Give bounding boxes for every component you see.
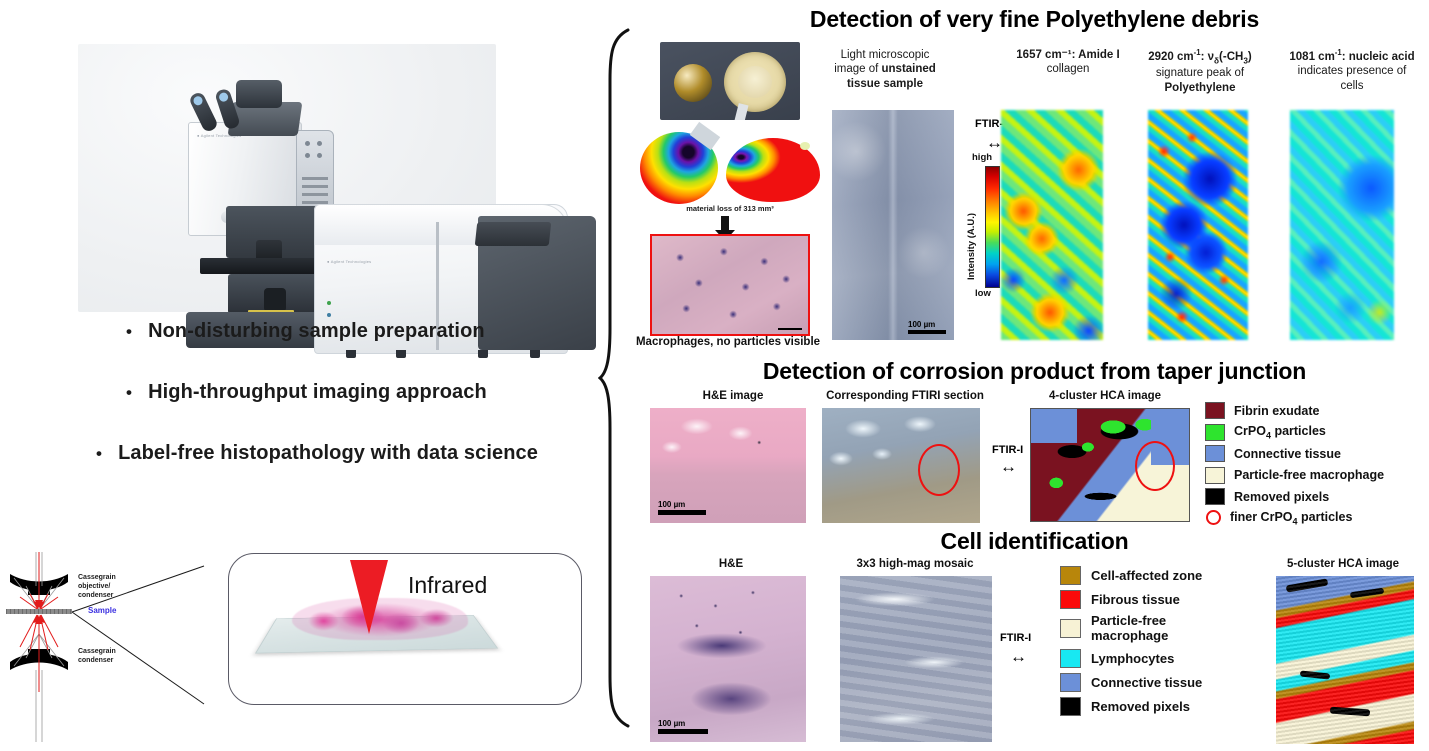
ftir-label-2: FTIR-I — [992, 444, 1023, 456]
region-of-interest-ring — [918, 444, 960, 496]
legend-row: Particle-free macrophage — [1205, 467, 1429, 484]
colorbar-axis-label: Intensity (A.U.) — [966, 176, 977, 280]
legend-swatch-cell-affected-zone — [1060, 566, 1081, 585]
material-loss-caption: material loss of 313 mm³ — [640, 204, 820, 213]
panel-caption-he-image: H&E image — [658, 390, 808, 402]
list-item: • Non-disturbing sample preparation — [126, 320, 566, 343]
legend-swatch-crpo4-particles — [1205, 424, 1225, 441]
legend-row: Lymphocytes — [1060, 649, 1275, 668]
grouping-brace — [598, 28, 632, 728]
bullet-marker: • — [96, 445, 102, 462]
legend-row: Particle-freemacrophage — [1060, 614, 1275, 644]
heatmap-2920 — [1148, 110, 1248, 340]
infrared-label: Infrared — [408, 572, 487, 599]
ftir-arrow-2: ↔ — [1000, 458, 1017, 475]
legend-label: Particle-free macrophage — [1234, 468, 1384, 482]
objective-label: Cassegrain objective/ condenser — [78, 574, 140, 600]
section-title-2: Detection of corrosion product from tape… — [640, 358, 1429, 385]
spectrometer-window — [475, 222, 552, 246]
legend-cell-identification: Cell-affected zone Fibrous tissue Partic… — [1060, 566, 1275, 721]
bullet-marker: • — [126, 384, 132, 401]
heatmap-1081 — [1290, 110, 1394, 340]
legend-ring-finer-crpo4 — [1206, 510, 1221, 525]
legend-label: Connective tissue — [1234, 447, 1341, 461]
legend-swatch-connective-tissue — [1205, 445, 1225, 462]
panel-caption-5cluster: 5-cluster HCA image — [1258, 558, 1428, 570]
condenser-label: Cassegrain condenser — [78, 648, 140, 666]
ftir-arrow-3: ↔ — [1010, 648, 1027, 665]
legend-row: Fibrin exudate — [1205, 402, 1429, 419]
list-item: • Label-free histopathology with data sc… — [96, 442, 566, 465]
legend-row: Removed pixels — [1060, 697, 1275, 716]
legend-label: Cell-affected zone — [1091, 568, 1202, 583]
legend-swatch-fibrous-tissue — [1060, 590, 1081, 609]
panel-caption-ch3: 2920 cm-1: νδ(-CH3) signature peak of Po… — [1126, 48, 1274, 95]
panel-caption-light-microscopic: Light microscopic image of image of unst… — [820, 48, 950, 91]
ftiri-section-image — [822, 408, 980, 523]
legend-label: Connective tissue — [1091, 675, 1202, 690]
light-microscopic-image: 100 µm — [832, 110, 954, 340]
condenser-unit — [264, 288, 286, 312]
inset-scalebar — [778, 327, 802, 330]
implant-photo — [660, 42, 800, 120]
panel-caption-mosaic: 3x3 high-mag mosaic — [830, 558, 1000, 570]
scalebar-he-corrosion: 100 µm — [658, 500, 706, 515]
legend-label: Particle-freemacrophage — [1091, 614, 1168, 644]
legend-row: Connective tissue — [1060, 673, 1275, 692]
legend-swatch-particle-free-macrophage — [1060, 619, 1081, 638]
legend-label: finer CrPO4 particles — [1230, 510, 1352, 527]
legend-row: Removed pixels — [1205, 488, 1429, 505]
highmag-mosaic-image — [840, 576, 992, 742]
panel-caption-amide: 1657 cm⁻¹: Amide I collagen — [998, 48, 1138, 77]
panel-caption-he: H&E — [656, 558, 806, 570]
legend-swatch-lymphocytes — [1060, 649, 1081, 668]
wear-map-diagram — [640, 128, 820, 206]
panel-caption-nucleic: 1081 cm-1: nucleic acid indicates presen… — [1278, 48, 1426, 93]
legend-label: Fibrin exudate — [1234, 404, 1319, 418]
hca-5cluster-image — [1276, 576, 1414, 744]
legend-label: Lymphocytes — [1091, 651, 1174, 666]
scalebar-light-microscopic: 100 µm — [908, 320, 946, 334]
legend-label: Removed pixels — [1234, 490, 1329, 504]
bullet-text: High-throughput imaging approach — [148, 381, 487, 404]
ftir-label-3: FTIR-I — [1000, 632, 1031, 644]
legend-row: Fibrous tissue — [1060, 590, 1275, 609]
legend-row: finer CrPO4 particles — [1205, 510, 1429, 527]
he-histology-image-corrosion: 100 µm — [650, 408, 806, 523]
colorbar-high-label: high — [972, 152, 992, 163]
bullet-marker: • — [126, 323, 132, 340]
legend-row: Connective tissue — [1205, 445, 1429, 462]
macrophage-caption: Macrophages, no particles visible — [620, 336, 836, 348]
legend-swatch-removed-pixels — [1060, 697, 1081, 716]
brace-svg — [598, 28, 632, 728]
legend-row: CrPO4 particles — [1205, 424, 1429, 441]
scalebar-he-cells: 100 µm — [658, 719, 708, 734]
hca-4cluster-image — [1030, 408, 1190, 522]
panel-caption-4cluster: 4-cluster HCA image — [1020, 390, 1190, 402]
he-histology-image-cells: 100 µm — [650, 576, 806, 742]
legend-swatch-fibrin-exudate — [1205, 402, 1225, 419]
legend-label: Fibrous tissue — [1091, 592, 1180, 607]
spectrometer-brand: ● Agilent Technologies — [327, 259, 371, 264]
intensity-colorbar — [985, 166, 1000, 288]
sample-label: Sample — [88, 606, 116, 615]
section-title-3: Cell identification — [640, 528, 1429, 555]
legend-swatch-particle-free-macrophage — [1205, 467, 1225, 484]
colorbar-low-label: low — [975, 288, 991, 299]
key-points-list: • Non-disturbing sample preparation • Hi… — [96, 320, 566, 465]
legend-swatch-connective-tissue — [1060, 673, 1081, 692]
list-item: • High-throughput imaging approach — [126, 381, 566, 404]
macrophage-histology-image — [650, 234, 810, 336]
legend-label: CrPO4 particles — [1234, 424, 1326, 441]
section-title-1: Detection of very fine Polyethylene debr… — [640, 6, 1429, 33]
legend-corrosion: Fibrin exudate CrPO4 particles Connectiv… — [1205, 402, 1429, 531]
heatmap-1657 — [1001, 110, 1103, 340]
instrument-photo: ● Agilent Technologies ● Agilent Technol… — [78, 44, 496, 312]
legend-swatch-removed-pixels — [1205, 488, 1225, 505]
infrared-beam-arrow — [350, 560, 388, 634]
bullet-text: Non-disturbing sample preparation — [148, 320, 485, 343]
panel-caption-ftiri-section: Corresponding FTIRI section — [810, 390, 1000, 402]
graphical-abstract-figure: ● Agilent Technologies ● Agilent Technol… — [0, 0, 1429, 751]
cassegrain-optics-diagram: Cassegrain objective/ condenser Sample C… — [6, 552, 206, 742]
camera-turret — [236, 80, 282, 108]
finer-particles-ring — [1135, 441, 1175, 491]
legend-row: Cell-affected zone — [1060, 566, 1275, 585]
bullet-text: Label-free histopathology with data scie… — [118, 442, 538, 465]
legend-label: Removed pixels — [1091, 699, 1190, 714]
